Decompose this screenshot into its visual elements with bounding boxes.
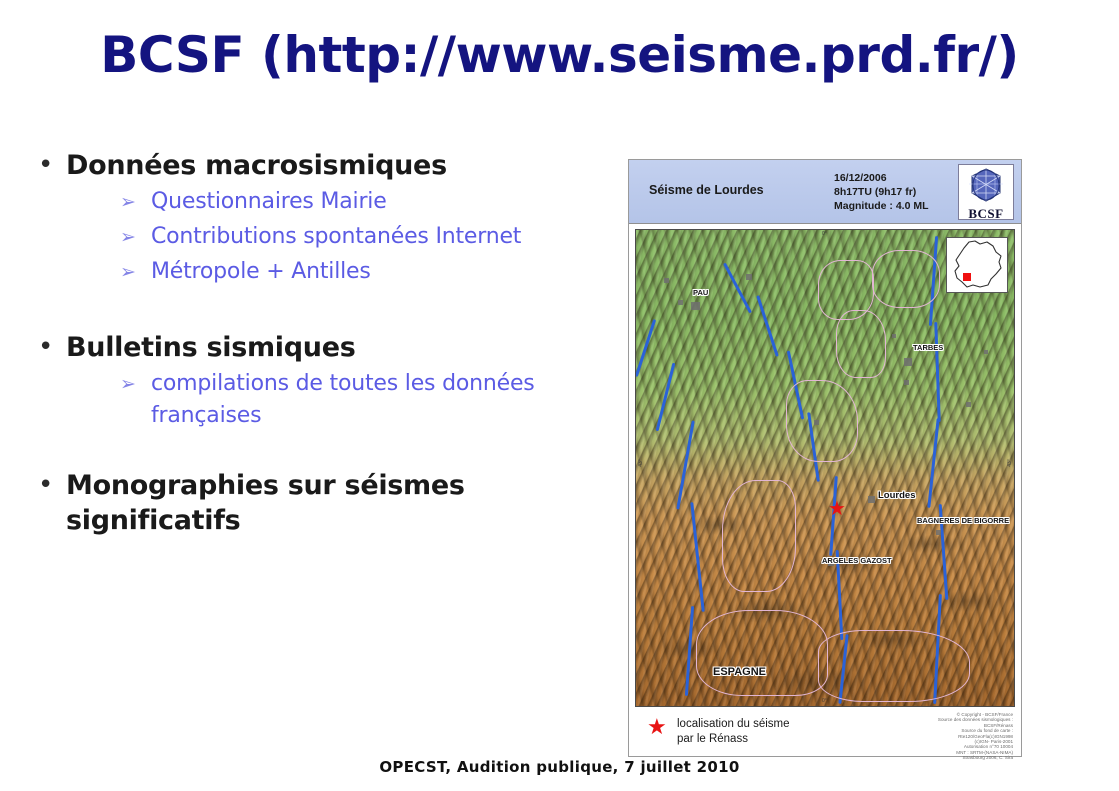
sub-bullet-label: Questionnaires Mairie [151,186,387,218]
sub-bullet-label: Contributions spontanées Internet [151,221,521,253]
map-event-magnitude: Magnitude : 4.0 ML [834,199,929,213]
legend-description: localisation du séisme par le Rénass [677,717,790,747]
city-marker [814,420,819,425]
sub-bullet-contributions-spontanees-internet: ➢ Contributions spontanées Internet [120,221,603,253]
arrow-right-icon: ➢ [120,256,151,288]
bullet-marker-icon: • [28,148,66,182]
map-tick-bottom: 0° [822,698,827,704]
bcsf-logo: BCSF [958,164,1014,220]
map-canvas[interactable]: ★ PAU TARBES Lourdes BAGNERES DE BIGORRE… [635,229,1015,707]
block-spacer [28,292,603,330]
bullet-heading: Monographies sur séismes significatifs [66,468,466,538]
city-marker [904,380,909,385]
map-credits: © Copyright - BCSF/France Source des don… [853,712,1013,761]
map-tick-left: 43° [638,459,644,467]
legend-line-2: par le Rénass [677,732,790,747]
bullet-block-1: • Données macrosismiques ➢ Questionnaire… [28,148,603,288]
map-label-lourdes: Lourdes [878,490,915,501]
city-marker [892,334,896,338]
bullet-block-3: • Monographies sur séismes significatifs [28,468,603,538]
admin-boundary [722,480,796,592]
bullet-block-2: • Bulletins sismiques ➢ compilations de … [28,330,603,432]
bullet-item-donnees-macrosismiques: • Données macrosismiques [28,148,603,183]
sub-bullet-compilations-donnees-francaises: ➢ compilations de toutes les données fra… [120,368,603,432]
admin-boundary [872,250,940,308]
page-title: BCSF (http://www.seisme.prd.fr/) [0,26,1119,84]
legend-line-1: localisation du séisme [677,717,790,732]
map-event-date: 16/12/2006 [834,171,929,185]
bullet-marker-icon: • [28,468,66,502]
sub-bullet-label: Métropole + Antilles [151,256,371,288]
map-legend: ★ localisation du séisme par le Rénass ©… [635,711,1015,755]
bullet-item-bulletins-sismiques: • Bulletins sismiques [28,330,603,365]
bcsf-logo-text: BCSF [968,206,1003,221]
city-marker [746,274,752,280]
map-label-tarbes: TARBES [913,343,943,352]
epicenter-star-icon: ★ [828,498,846,518]
arrow-right-icon: ➢ [120,186,151,218]
arrow-right-icon: ➢ [120,368,151,400]
admin-boundary [786,380,858,462]
sub-bullet-questionnaires-mairie: ➢ Questionnaires Mairie [120,186,603,218]
map-header: Séisme de Lourdes 16/12/2006 8h17TU (9h1… [629,160,1021,224]
inset-location-marker [963,273,971,281]
city-marker [664,278,669,283]
bullet-item-monographies-seismes: • Monographies sur séismes significatifs [28,468,603,538]
map-event-title: Séisme de Lourdes [649,183,764,197]
map-label-espagne: ESPAGNE [713,666,766,678]
map-tick-top: 0° [822,231,827,237]
map-event-time: 8h17TU (9h17 fr) [834,185,929,199]
map-event-metadata: 16/12/2006 8h17TU (9h17 fr) Magnitude : … [834,171,929,213]
arrow-right-icon: ➢ [120,221,151,253]
admin-boundary [696,610,828,696]
earthquake-map-figure: Séisme de Lourdes 16/12/2006 8h17TU (9h1… [628,159,1022,757]
city-marker [678,300,683,305]
bullet-marker-icon: • [28,330,66,364]
admin-boundary [818,630,970,702]
legend-star-icon: ★ [647,717,667,739]
city-marker [868,496,875,503]
france-inset-map [946,237,1008,293]
city-marker [936,530,941,535]
city-marker [984,350,988,354]
block-spacer [28,436,603,468]
slide-footer: OPECST, Audition publique, 7 juillet 201… [0,758,1119,776]
city-marker [966,402,971,407]
bullet-heading: Données macrosismiques [66,148,447,183]
city-marker [904,358,912,366]
sub-bullet-metropole-antilles: ➢ Métropole + Antilles [120,256,603,288]
map-label-bagneres-de-bigorre: BAGNERES DE BIGORRE [917,516,1009,525]
city-marker [691,302,700,310]
map-label-pau: PAU [693,288,708,297]
bullet-list: • Données macrosismiques ➢ Questionnaire… [28,148,603,542]
admin-boundary [836,310,886,378]
map-label-argeles-gazost: ARGELES GAZOST [822,556,892,565]
globe-icon [959,167,1013,203]
map-tick-right: 43° [1007,459,1013,467]
bullet-heading: Bulletins sismiques [66,330,356,365]
sub-bullet-label: compilations de toutes les données franç… [151,368,581,432]
